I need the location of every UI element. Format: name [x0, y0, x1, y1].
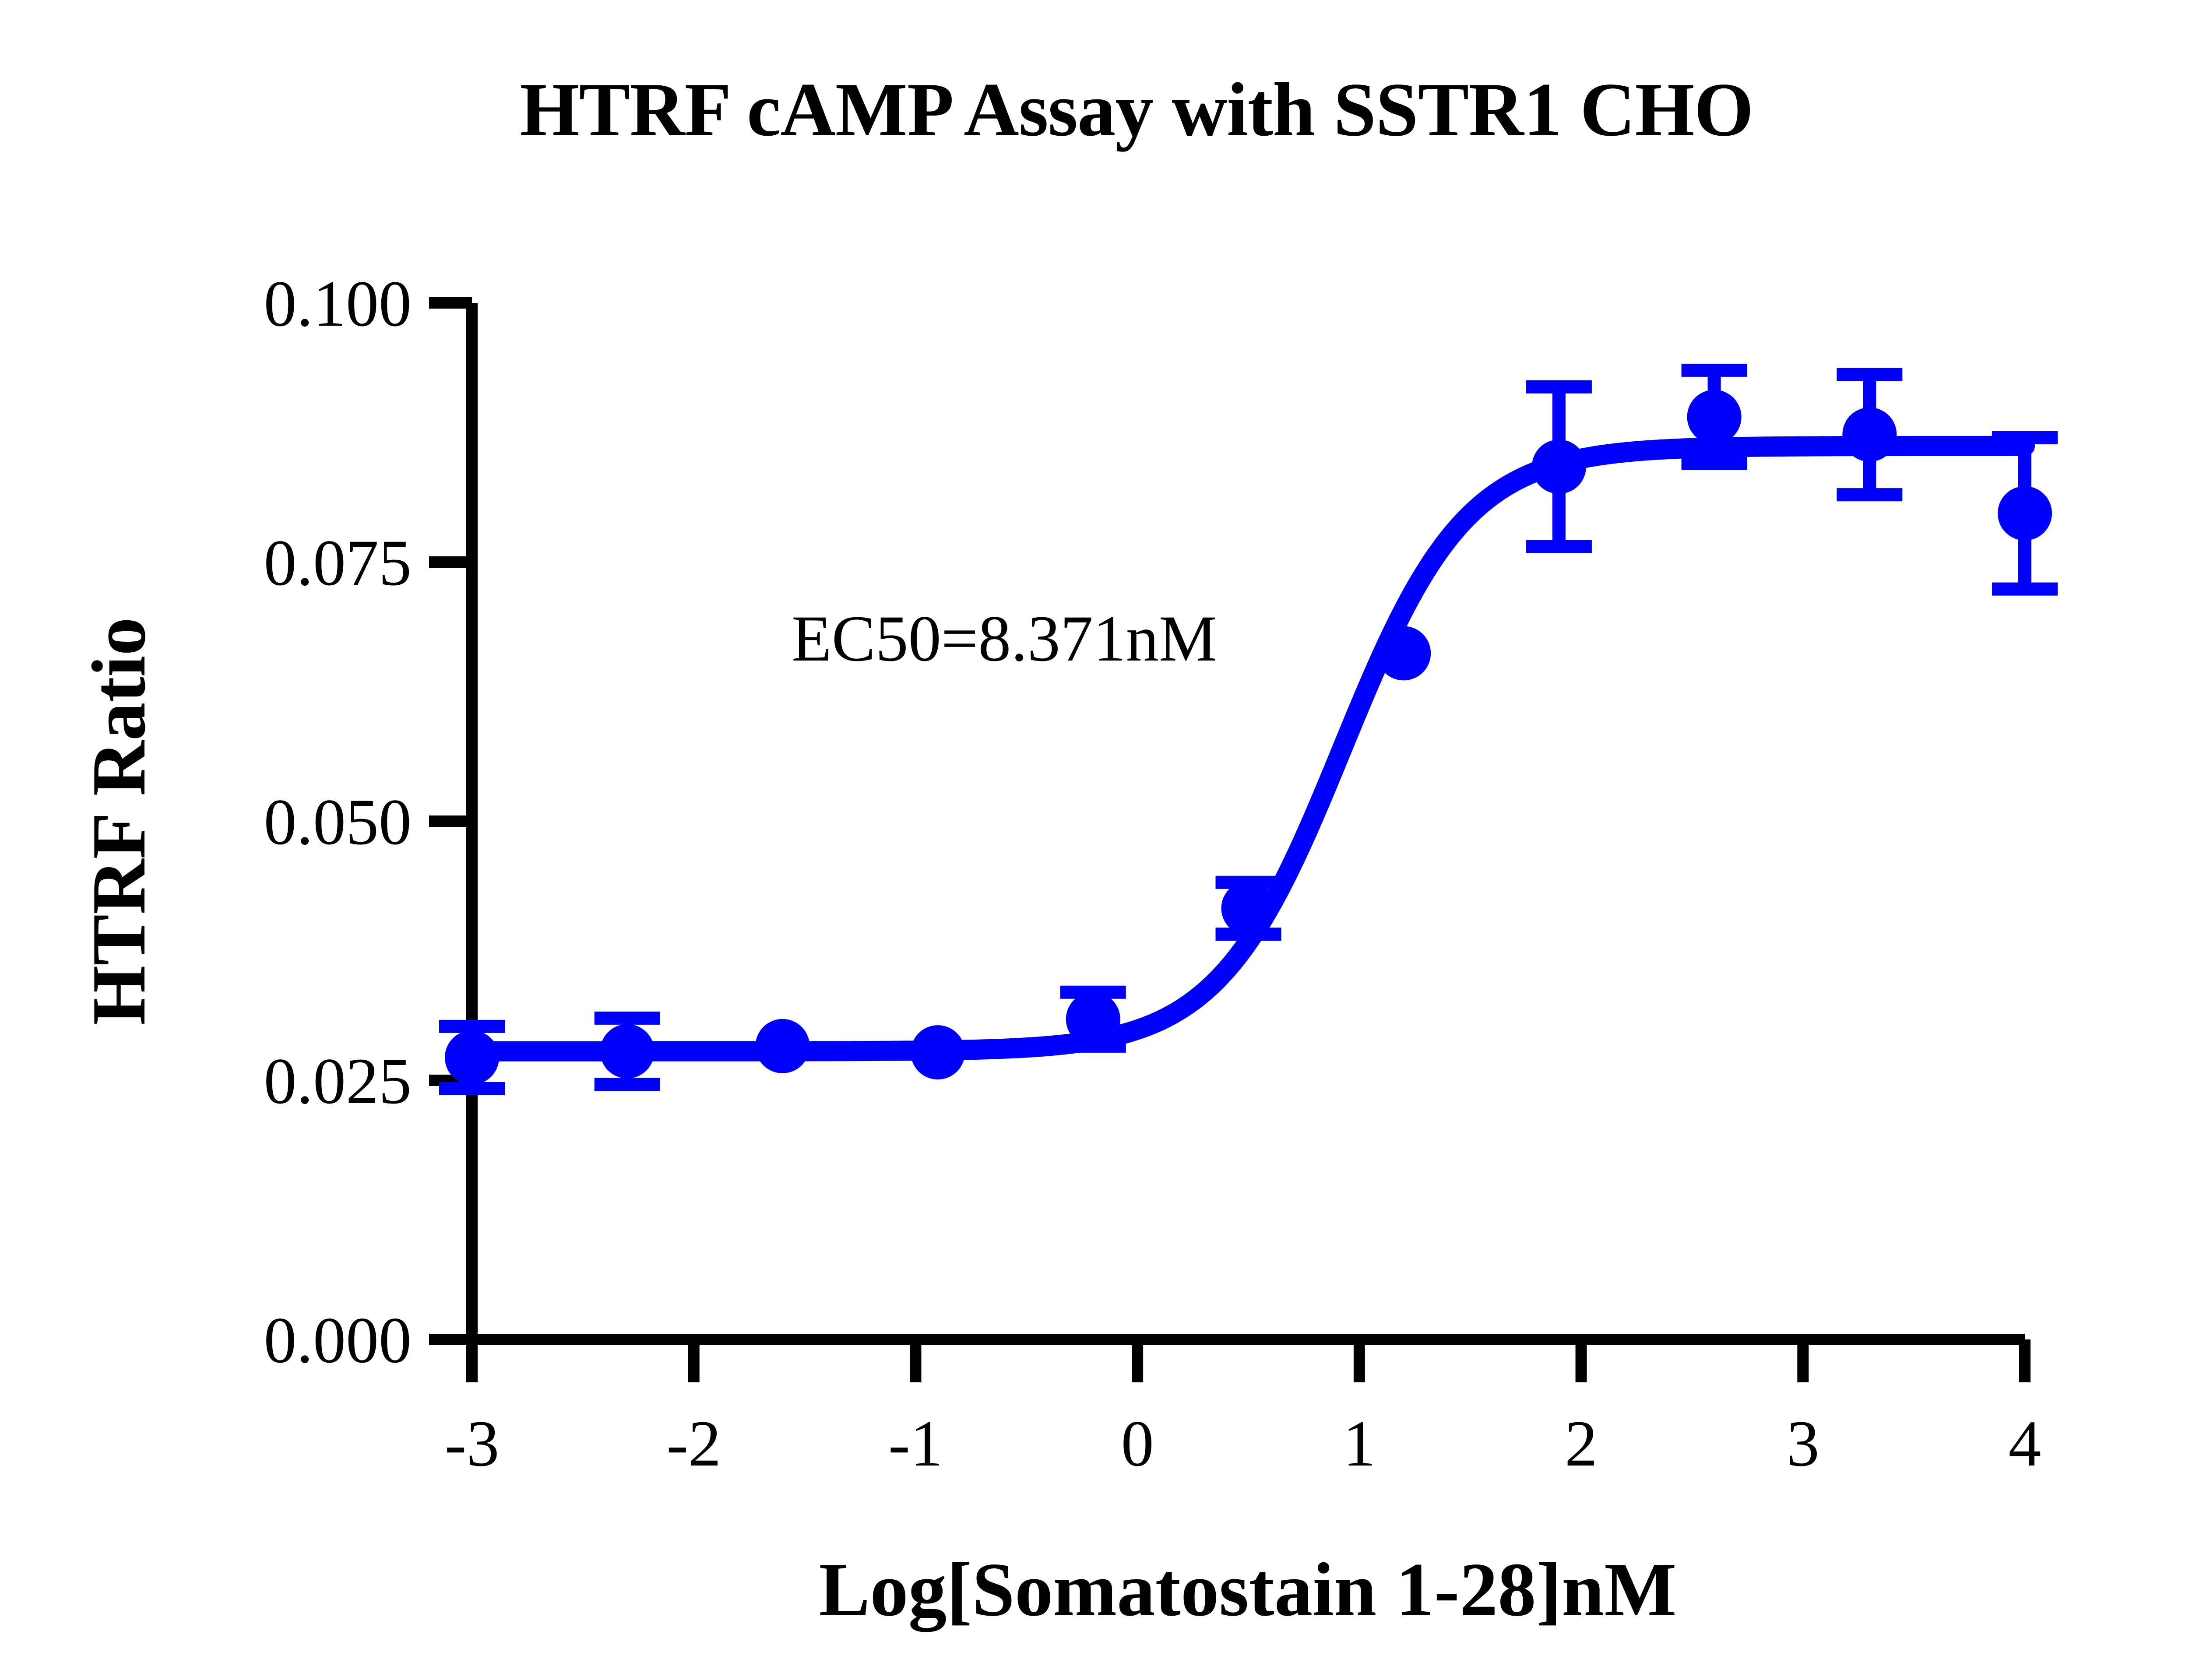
data-point-10	[1998, 486, 2052, 541]
y-tick-label-4: 0.100	[264, 267, 412, 340]
fit-curve-path	[472, 446, 2025, 1051]
annotations: EC50=8.371nM	[792, 602, 1217, 675]
x-tick-labels: -3-2-101234	[445, 1407, 2041, 1480]
y-tick-label-3: 0.075	[264, 527, 412, 599]
data-point-3	[911, 1025, 965, 1079]
data-point-2	[755, 1019, 809, 1073]
y-tick-labels: 0.0000.0250.0500.0750.100	[264, 267, 412, 1377]
fit-curve	[472, 446, 2025, 1051]
data-point-1	[600, 1024, 655, 1079]
y-tick-label-0: 0.000	[264, 1304, 412, 1377]
x-tick-label-3: 0	[1121, 1407, 1154, 1480]
y-tick-label-2: 0.050	[264, 786, 412, 858]
x-tick-label-4: 1	[1343, 1407, 1376, 1480]
data-point-9	[1842, 408, 1897, 462]
y-tick-label-1: 0.025	[264, 1045, 412, 1118]
data-point-0	[445, 1030, 499, 1085]
y-axis-title: HTRF Ratio	[76, 617, 161, 1025]
axis-lines	[429, 303, 2025, 1382]
x-tick-label-7: 4	[2009, 1407, 2041, 1480]
data-point-6	[1376, 626, 1431, 680]
x-axis-title: Log[Somatostain 1-28]nM	[819, 1547, 1676, 1632]
chart-figure: HTRF cAMP Assay with SSTR1 CHO 0.0000.02…	[0, 0, 2189, 1680]
x-tick-label-2: -1	[888, 1407, 943, 1480]
data-point-5	[1221, 881, 1276, 935]
x-tick-label-1: -2	[666, 1407, 721, 1480]
x-tick-label-6: 3	[1787, 1407, 1819, 1480]
data-points	[445, 390, 2052, 1084]
error-bars	[439, 370, 2058, 1089]
x-tick-label-5: 2	[1565, 1407, 1598, 1480]
data-point-8	[1687, 390, 1742, 444]
data-point-7	[1532, 439, 1586, 494]
x-tick-label-0: -3	[445, 1407, 500, 1480]
plot-area: 0.0000.0250.0500.0750.100 -3-2-101234 EC…	[0, 0, 2189, 1680]
data-point-4	[1066, 992, 1120, 1046]
annotation-ec50-0: EC50=8.371nM	[792, 602, 1217, 675]
